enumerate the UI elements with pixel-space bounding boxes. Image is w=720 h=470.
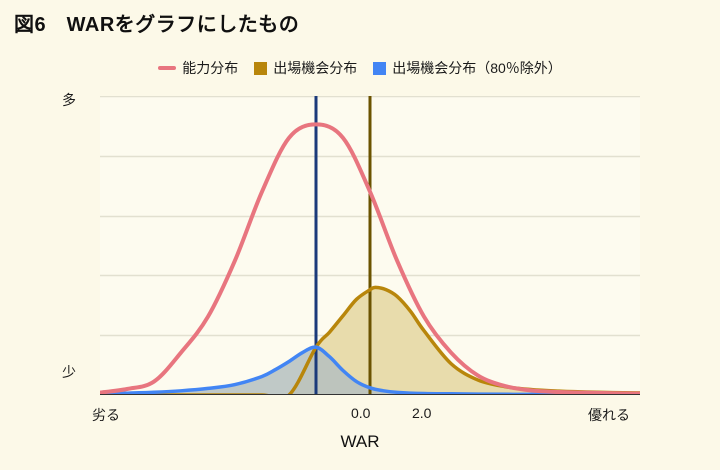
x-axis-left-label: 劣る	[92, 405, 120, 425]
x-axis-tick-two: 2.0	[412, 405, 431, 421]
plot-area	[100, 96, 640, 395]
page-title: 図6 WARをグラフにしたもの	[14, 8, 299, 37]
figure-container: 図6 WARをグラフにしたもの 能力分布 出場機会分布 出場機会分布（80％除外…	[0, 0, 720, 470]
x-axis-right-label: 優れる	[588, 405, 630, 425]
legend-label-playing-time: 出場機会分布	[273, 58, 357, 78]
legend-item-playing-time-excluded[interactable]: 出場機会分布（80％除外）	[373, 58, 562, 78]
legend-marker-line-icon	[158, 66, 176, 70]
legend-marker-square-icon	[373, 62, 386, 75]
chart-canvas	[100, 96, 640, 395]
legend-item-playing-time[interactable]: 出場機会分布	[254, 58, 357, 78]
legend-marker-square-icon	[254, 62, 267, 75]
chart-legend: 能力分布 出場機会分布 出場機会分布（80％除外）	[0, 58, 720, 78]
y-axis-top-label: 多	[62, 90, 76, 110]
x-axis-title: WAR	[0, 432, 720, 452]
legend-label-playing-time-excluded: 出場機会分布（80％除外）	[392, 58, 562, 78]
legend-label-ability: 能力分布	[182, 58, 238, 78]
legend-item-ability[interactable]: 能力分布	[158, 58, 238, 78]
y-axis-bottom-label: 少	[62, 362, 76, 382]
x-axis-tick-zero: 0.0	[351, 405, 370, 421]
